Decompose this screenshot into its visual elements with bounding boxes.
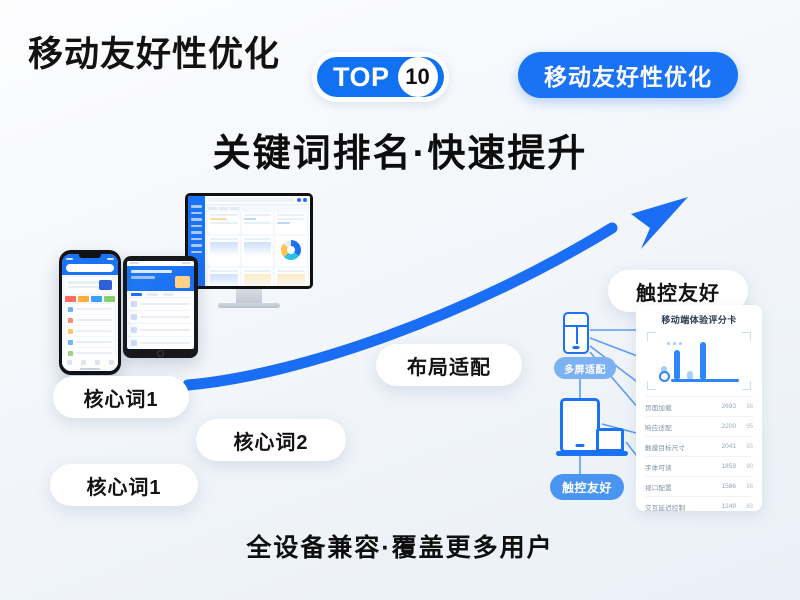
keyword-pill-2[interactable]: 核心词2 (196, 419, 346, 461)
phone-screen (62, 254, 118, 371)
row-name: 页面加载 (645, 402, 708, 412)
row-name: 视口配置 (645, 482, 708, 492)
row-score: 83 (740, 504, 753, 510)
diagram-phone-icon (563, 312, 589, 354)
table-row: 字体可读 1859 90 (645, 456, 753, 476)
diagram-tablet-icon (560, 398, 600, 453)
list-item (127, 298, 194, 311)
row-score: 98 (740, 404, 753, 410)
dashboard-toolbar (205, 205, 310, 212)
dashboard-area-chart (242, 268, 274, 286)
monitor-stand-base (218, 303, 280, 308)
top-rank-badge-inner: TOP 10 (317, 57, 444, 97)
page-subtitle: 关键词排名·快速提升 (0, 122, 800, 177)
device-mockup-group (24, 193, 324, 358)
tablet-screen (127, 261, 194, 349)
dashboard-avatar-dot (297, 198, 301, 202)
top-rank-number: 10 (398, 57, 438, 97)
list-item (65, 304, 115, 315)
dashboard-main (205, 196, 310, 286)
figure-baseline (671, 379, 739, 382)
dashboard-search-bar (208, 198, 295, 202)
page-title: 移动友好性优化 (28, 26, 280, 77)
row-name: 字体可读 (645, 462, 708, 472)
table-row: 页面加载 2693 98 (645, 396, 753, 416)
dashboard-bar-chart (242, 236, 274, 266)
tablet-home-button (157, 350, 164, 357)
table-row: 视口配置 1586 88 (645, 476, 753, 496)
phone-search-bar (62, 264, 118, 275)
row-value: 1249 (712, 503, 736, 510)
row-score: 88 (740, 484, 753, 490)
dashboard-area-chart (208, 268, 240, 286)
figure-pin-icon (659, 371, 670, 382)
dashboard-topbar (205, 196, 310, 205)
phone-home-indicator (80, 368, 100, 370)
row-name: 触摸目标尺寸 (645, 442, 708, 452)
phone-bottom-nav (62, 357, 118, 367)
touch-friendly-badge: 触控友好 (550, 474, 624, 500)
row-value: 1586 (712, 483, 736, 490)
tablet-banner (127, 266, 194, 291)
score-card-title: 移动端体验评分卡 (645, 313, 753, 326)
list-item (65, 326, 115, 337)
tablet-banner-image (175, 276, 190, 288)
desktop-monitor-mockup (185, 193, 313, 308)
top-rank-word: TOP (333, 62, 390, 93)
top-rank-badge: TOP 10 (312, 52, 449, 102)
row-value: 1859 (712, 463, 736, 470)
phone-mockup (59, 250, 121, 375)
row-name: 响应适配 (645, 422, 708, 432)
row-score: 93 (740, 444, 753, 450)
dashboard-card (242, 212, 274, 234)
keyword-pill-1[interactable]: 核心词1 (53, 376, 189, 418)
list-item (127, 311, 194, 324)
experience-score-card: 移动端体验评分卡 页面加载 2693 98 (636, 305, 762, 511)
dashboard-avatar-dot (303, 198, 307, 202)
dashboard-area-chart (275, 268, 307, 286)
layout-adaptation-pill[interactable]: 布局适配 (376, 344, 522, 386)
phone-category-row (62, 296, 118, 302)
list-item (127, 324, 194, 337)
header-tag-pill: 移动友好性优化 (518, 52, 738, 98)
tablet-mockup (123, 256, 198, 358)
phone-promo-thumb (99, 280, 112, 290)
mobile-experience-diagram: 多屏适配 触控友好 移动端体验评分卡 页面加 (548, 302, 768, 514)
table-row: 触摸目标尺寸 2041 93 (645, 436, 753, 456)
monitor-screen (185, 193, 313, 289)
list-item (65, 315, 115, 326)
keyword-pill-3[interactable]: 核心词1 (50, 464, 198, 506)
row-value: 2693 (712, 403, 736, 410)
list-item (65, 337, 115, 348)
monitor-screen-content (188, 196, 310, 286)
row-name: 交互延迟控制 (645, 502, 708, 512)
phone-notch (79, 252, 101, 258)
row-value: 2200 (712, 423, 736, 430)
list-item (127, 337, 194, 349)
tablet-tabs (127, 291, 194, 298)
row-score: 95 (740, 424, 753, 430)
score-card-figure (647, 332, 751, 390)
row-score: 90 (740, 464, 753, 470)
dashboard-line-chart (208, 236, 240, 266)
list-item (65, 370, 115, 371)
table-row: 交互延迟控制 1249 83 (645, 496, 753, 516)
phone-promo-card (65, 278, 115, 293)
dashboard-donut-chart (275, 236, 307, 266)
diagram-laptop-base (556, 451, 628, 456)
dashboard-card-grid (205, 212, 310, 286)
monitor-stand-neck (236, 289, 262, 303)
figure-bars (661, 338, 741, 380)
row-value: 2041 (712, 443, 736, 450)
dashboard-card (275, 212, 307, 234)
multiscreen-badge: 多屏适配 (554, 357, 616, 379)
diagram-laptop-icon (596, 428, 624, 452)
poster-canvas: 移动友好性优化 TOP 10 移动友好性优化 关键词排名·快速提升 (0, 0, 800, 600)
table-row: 响应适配 2200 95 (645, 416, 753, 436)
score-card-rows: 页面加载 2693 98 响应适配 2200 95 触摸目标尺寸 2041 93… (645, 396, 753, 516)
footer-tagline: 全设备兼容·覆盖更多用户 (0, 528, 800, 564)
dashboard-card (208, 212, 240, 234)
